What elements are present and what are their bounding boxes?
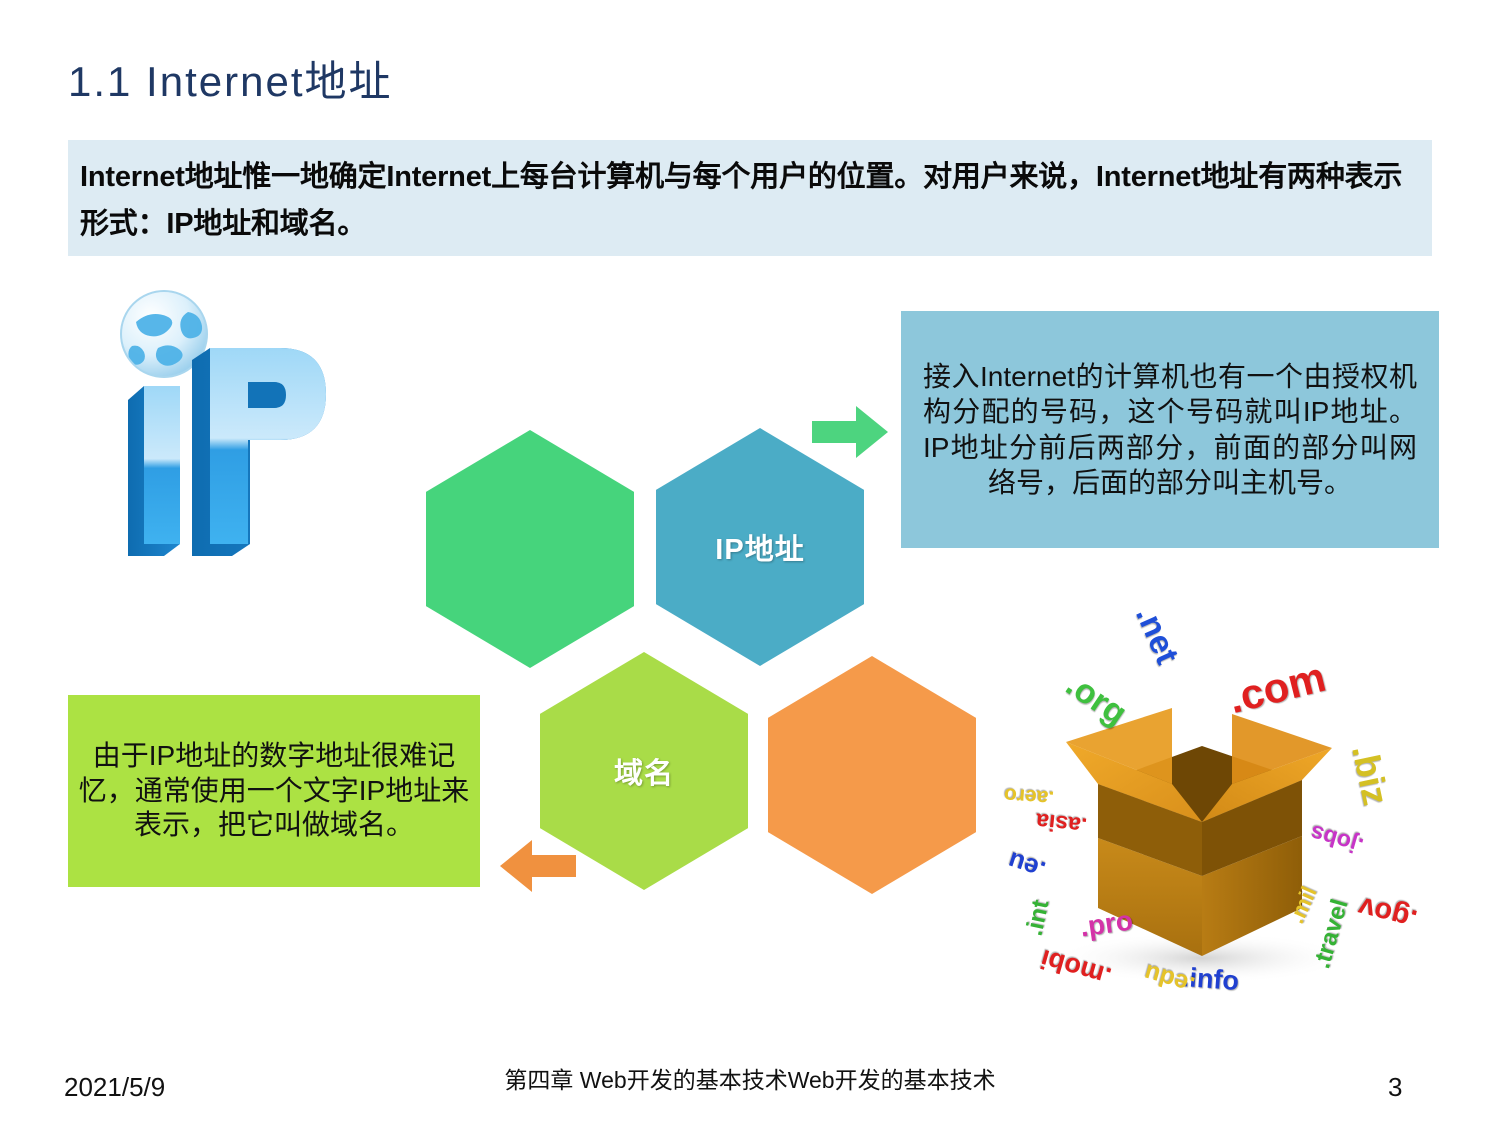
footer-date: 2021/5/9 — [64, 1072, 165, 1103]
arrow-right-green-icon — [812, 404, 888, 460]
footer-page-number: 3 — [1388, 1072, 1402, 1103]
presentation-slide: 1.1 Internet地址 Internet地址惟一地确定Internet上每… — [0, 0, 1500, 1125]
footer-chapter: 第四章 Web开发的基本技术Web开发的基本技术 — [460, 1066, 1040, 1096]
callout-ip-address-text: 接入Internet的计算机也有一个由授权机构分配的号码，这个号码就叫IP地址。… — [901, 359, 1439, 500]
callout-domain-name: 由于IP地址的数字地址很难记忆，通常使用一个文字IP地址来表示，把它叫做域名。 — [68, 695, 480, 887]
hexagon-domain-name-label: 域名 — [614, 750, 674, 792]
header-statement-text: Internet地址惟一地确定Internet上每台计算机与每个用户的位置。对用… — [80, 154, 1422, 248]
hexagon-orange[interactable] — [768, 656, 976, 894]
page-title: 1.1 Internet地址 — [68, 48, 392, 109]
callout-ip-address: 接入Internet的计算机也有一个由授权机构分配的号码，这个号码就叫IP地址。… — [901, 311, 1439, 548]
hexagon-ip-address[interactable]: IP地址 — [656, 428, 864, 666]
open-cardboard-box-with-tlds-icon: .net .org .com .biz .jobs .eu .gov .pro … — [980, 608, 1432, 1014]
tld-label: .aero — [1003, 782, 1055, 809]
header-statement-box: Internet地址惟一地确定Internet上每台计算机与每个用户的位置。对用… — [68, 140, 1432, 256]
hexagon-ip-address-label: IP地址 — [715, 526, 804, 568]
callout-domain-name-text: 由于IP地址的数字地址很难记忆，通常使用一个文字IP地址来表示，把它叫做域名。 — [68, 739, 480, 843]
tld-label: .asia — [1035, 807, 1089, 839]
hexagon-green[interactable] — [426, 430, 634, 668]
arrow-left-orange-icon — [500, 838, 576, 894]
ip-3d-globe-logo-icon — [92, 282, 332, 582]
